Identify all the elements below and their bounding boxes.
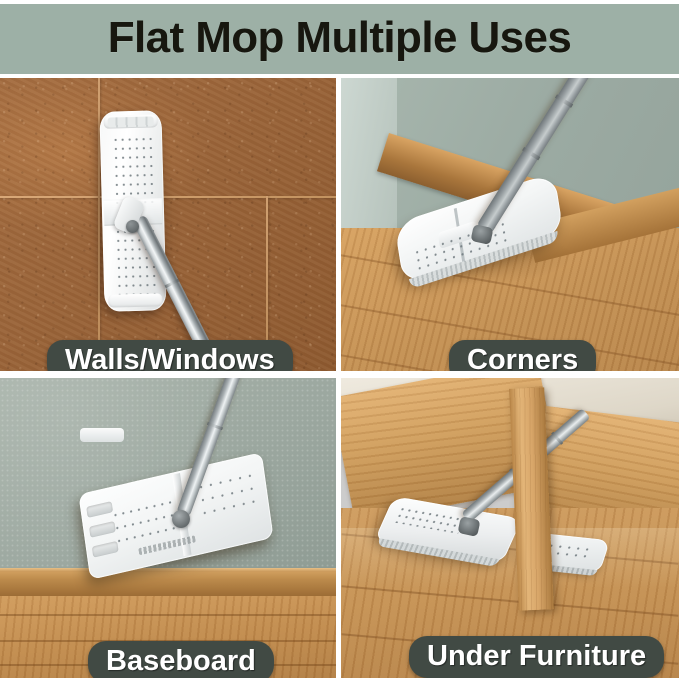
handle-telescope-ring-1	[522, 147, 540, 160]
panel-walls-windows[interactable]: Walls/Windows	[0, 78, 336, 371]
panel-under-furniture[interactable]: Under Furniture	[341, 378, 679, 678]
mop-head-lip-bottom	[108, 293, 162, 307]
panel-label-corners: Corners	[449, 340, 596, 371]
floor-plank-seam-1	[0, 614, 336, 616]
swivel-joint-icon	[172, 510, 190, 528]
use-case-grid: Walls/Windows	[0, 78, 679, 678]
product-infographic: Flat Mop Multiple Uses	[0, 0, 679, 678]
panel-label-under-furniture: Under Furniture	[409, 636, 664, 678]
handle-telescope-ring-2	[555, 94, 573, 107]
mop-head-clip	[80, 428, 124, 442]
panel-label-walls-windows: Walls/Windows	[47, 340, 293, 371]
mop-head-perforations-top	[112, 134, 154, 207]
poster-header-band: Flat Mop Multiple Uses	[0, 4, 679, 74]
panel-corners[interactable]: Corners	[341, 78, 679, 371]
panel-label-baseboard: Baseboard	[88, 641, 274, 678]
floor-plank-seam-2	[342, 585, 679, 616]
handle-telescope-ring-1	[207, 422, 223, 430]
mop-head-perforations-right	[195, 468, 260, 525]
mop-head-slot-1	[86, 501, 113, 518]
mop-head-slots-top	[108, 116, 154, 127]
handle-telescope-ring-2	[551, 432, 563, 445]
swivel-joint-icon	[126, 220, 139, 233]
page-title: Flat Mop Multiple Uses	[108, 16, 572, 60]
panel-baseboard[interactable]: Baseboard	[0, 378, 336, 678]
handle-seam-upper	[165, 279, 180, 288]
mop-head-perforations	[393, 505, 466, 533]
